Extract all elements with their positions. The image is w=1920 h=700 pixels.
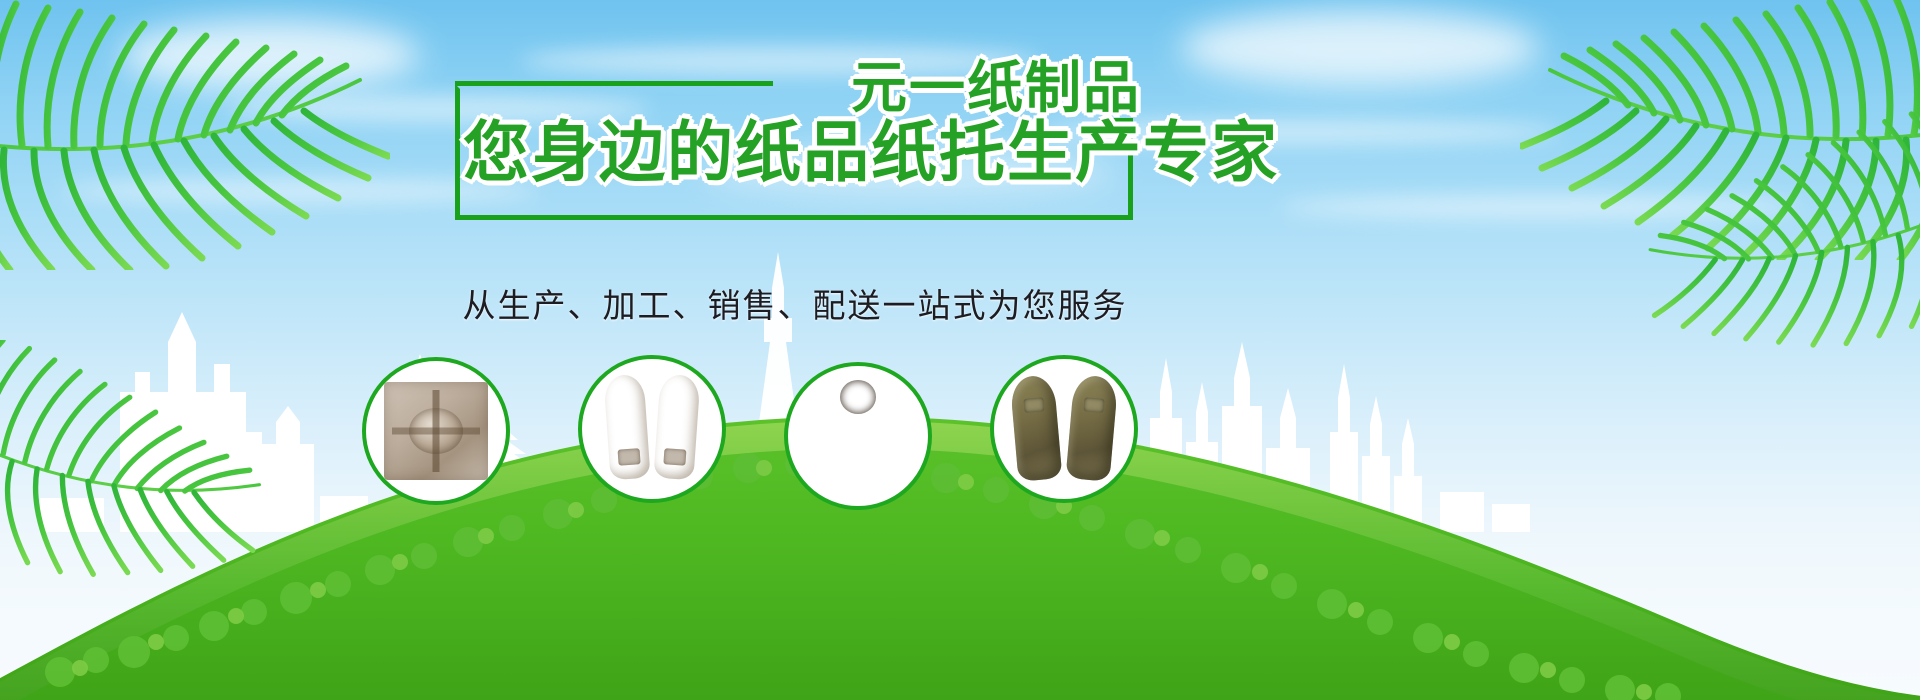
insole-olive-right (1066, 374, 1119, 481)
insole-olive-left (1010, 374, 1063, 481)
headline-text: 您身边的纸品纸托生产专家 (463, 118, 1279, 188)
promo-banner: 元一纸制品 您身边的纸品纸托生产专家 从生产、加工、销售、配送一站式为您服务 (0, 0, 1920, 700)
palm-frond-icon (0, 340, 280, 600)
green-hill-graphic (0, 280, 1920, 700)
product-circle-molded-pulp-double-tray[interactable] (784, 362, 932, 510)
cloud-shape (120, 20, 420, 90)
decorative-top-rule (455, 81, 773, 86)
product-circle-molded-pulp-insoles-olive[interactable] (990, 355, 1138, 503)
insole-right (653, 374, 700, 481)
molded-pulp-square-tray-image (384, 382, 488, 480)
cloud-shape (1280, 196, 1800, 218)
palm-frond-icon (1630, 110, 1920, 370)
product-circle-molded-pulp-insoles-tan[interactable] (578, 355, 726, 503)
product-circle-molded-pulp-square-tray[interactable] (362, 357, 510, 505)
molded-pulp-insoles-tan-image (604, 375, 700, 483)
brand-title: 元一纸制品 (851, 60, 1141, 118)
insole-left (603, 374, 650, 481)
city-skyline-silhouette (0, 192, 1920, 532)
molded-pulp-double-tray-image (799, 397, 917, 475)
palm-frond-icon (1520, 0, 1920, 260)
subtitle-text: 从生产、加工、销售、配送一站式为您服务 (455, 286, 1135, 326)
molded-pulp-insoles-olive-image (1012, 374, 1116, 484)
headline-block: 元一纸制品 您身边的纸品纸托生产专家 (455, 84, 1133, 220)
cloud-shape (1180, 10, 1540, 86)
